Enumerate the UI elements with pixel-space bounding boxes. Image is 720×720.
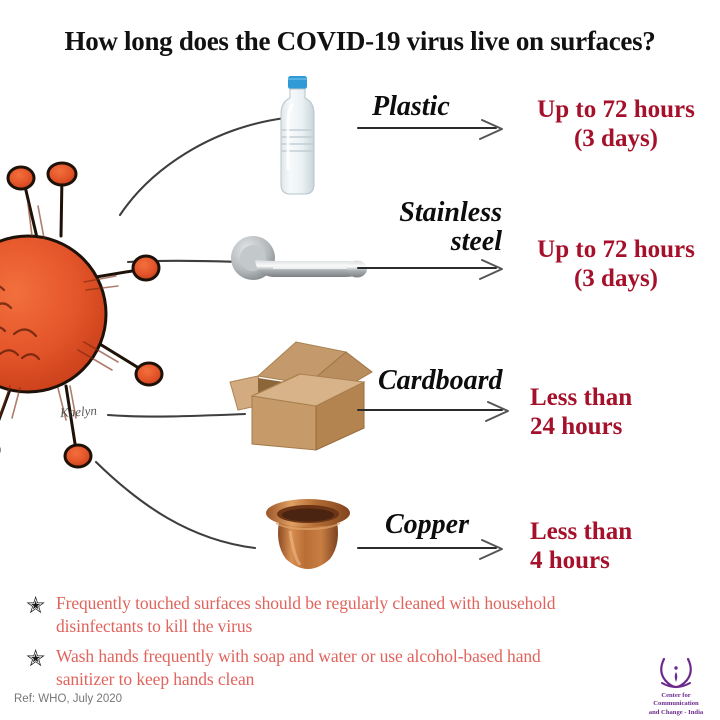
- surface-label-cardboard: Cardboard: [378, 366, 502, 395]
- star-bullet-icon: ✭: [26, 592, 56, 617]
- cccindia-lotus-logo-icon: [656, 655, 696, 691]
- surface-label-copper: Copper: [385, 510, 469, 539]
- arrow-right-icon: [356, 118, 508, 142]
- arrow-right-icon: [356, 538, 508, 562]
- plastic-water-bottle-icon: [266, 74, 328, 201]
- advice-text-wash-hands: Wash hands frequently with soap and wate…: [56, 645, 541, 691]
- stainless-steel-door-handle-icon: [225, 232, 373, 293]
- advice-item-clean-surfaces: ✭ Frequently touched surfaces should be …: [26, 592, 686, 638]
- advice-item-wash-hands: ✭ Wash hands frequently with soap and wa…: [26, 645, 686, 691]
- surface-label-stainless-steel: Stainless steel: [372, 198, 502, 256]
- surface-label-plastic: Plastic: [372, 92, 450, 121]
- arrow-right-icon: [356, 400, 514, 424]
- star-bullet-icon: ✭: [26, 645, 56, 670]
- artist-signature: Kaelyn: [59, 403, 97, 422]
- organization-logo: Center for Communication and Change - In…: [636, 655, 716, 717]
- coronavirus-illustration: [0, 158, 166, 478]
- duration-stainless-steel: Up to 72 hours (3 days): [516, 236, 716, 293]
- duration-plastic: Up to 72 hours (3 days): [516, 96, 716, 153]
- duration-cardboard: Less than 24 hours: [530, 384, 720, 441]
- copper-pot-icon: [252, 489, 364, 586]
- organization-name: Center for Communication and Change - In…: [636, 692, 716, 717]
- page-title: How long does the COVID-19 virus live on…: [0, 26, 720, 57]
- source-reference: Ref: WHO, July 2020: [14, 693, 122, 705]
- advice-text-clean-surfaces: Frequently touched surfaces should be re…: [56, 592, 555, 638]
- infographic-poster: How long does the COVID-19 virus live on…: [0, 0, 720, 720]
- arrow-right-icon: [356, 258, 508, 282]
- cardboard-box-icon: [222, 332, 374, 459]
- duration-copper: Less than 4 hours: [530, 518, 720, 575]
